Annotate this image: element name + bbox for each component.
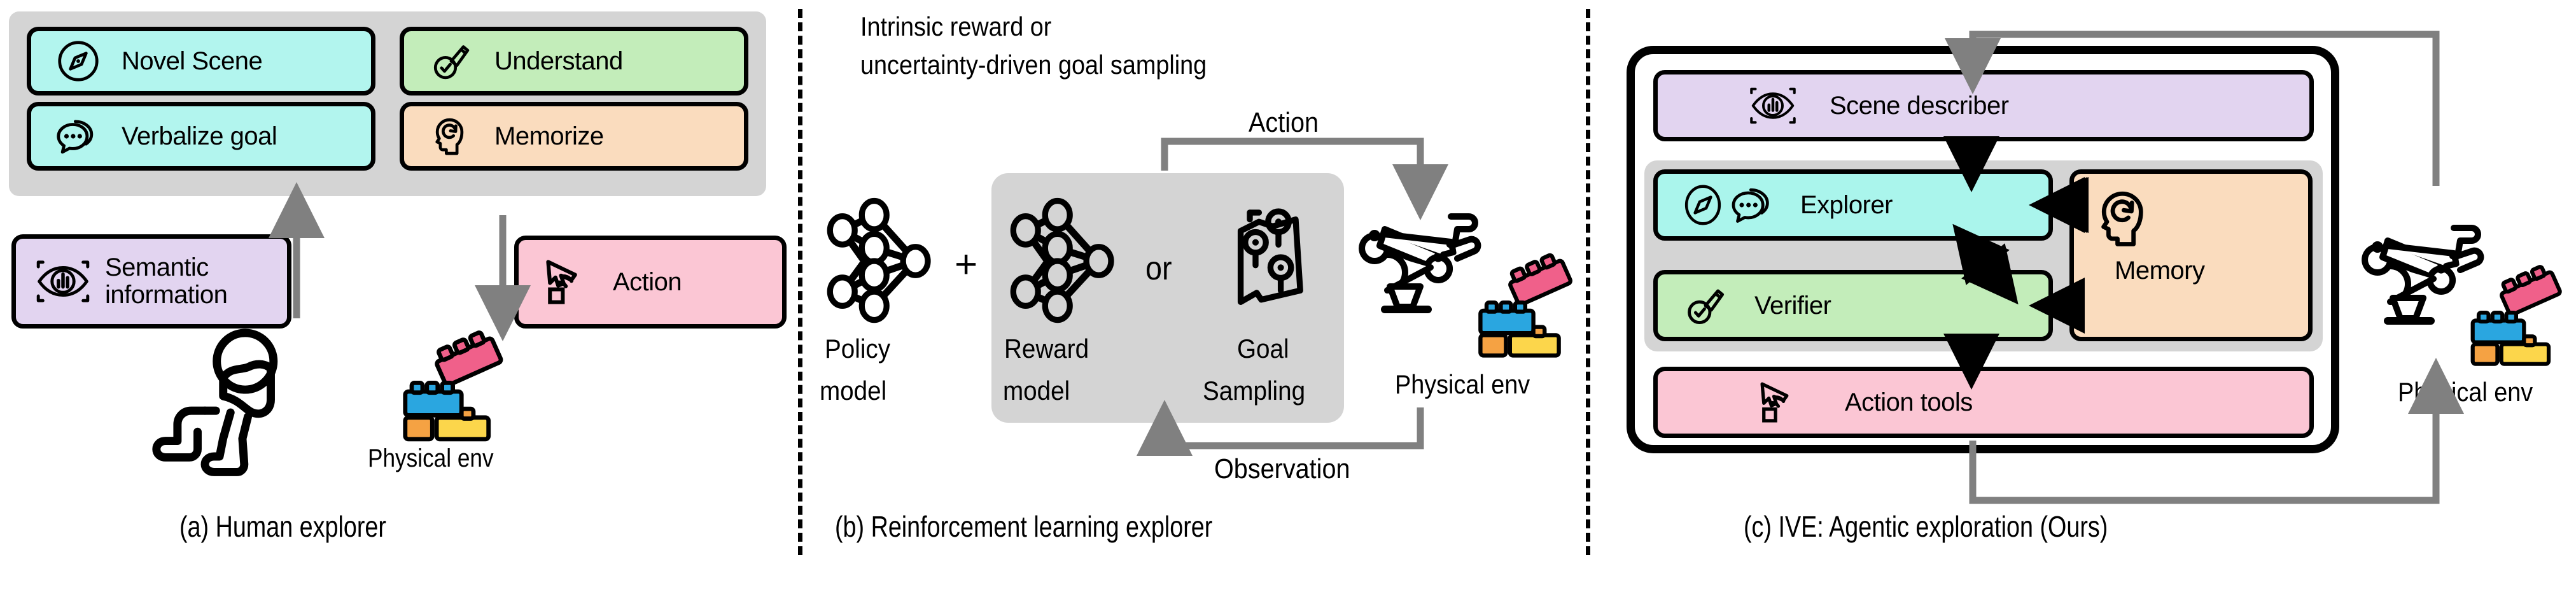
box-memory-label: Memory	[2115, 257, 2204, 285]
box-verifier-label: Verifier	[1754, 292, 1831, 320]
map-pins-icon	[1215, 199, 1330, 323]
head-refresh-icon-c	[2089, 183, 2160, 254]
reward-model-label-line1: Reward	[1004, 334, 1089, 364]
figure-root: Novel Scene Verbalize goal Understand	[0, 0, 2576, 601]
box-verifier[interactable]: Verifier	[1653, 270, 2053, 341]
semantic-line-1: Semantic	[105, 254, 227, 281]
policy-model	[820, 197, 941, 325]
eye-scan-icon-c	[1747, 80, 1799, 132]
box-memorize-label: Memorize	[494, 122, 604, 151]
crawling-child-icon	[127, 325, 312, 471]
panel-c-env-label: Physical env	[2398, 377, 2533, 407]
panel-b-env-label: Physical env	[1395, 369, 1530, 400]
box-semantic-information[interactable]: Semantic information	[11, 234, 291, 329]
reward-model	[1003, 197, 1124, 325]
box-scene-describer-label: Scene describer	[1830, 92, 2009, 120]
box-action-label: Action	[613, 268, 682, 297]
box-memorize[interactable]: Memorize	[400, 102, 748, 171]
box-semantic-information-label: Semantic information	[105, 254, 227, 309]
lego-bricks-icon-c	[2458, 271, 2576, 370]
box-memory[interactable]: Memory	[2069, 169, 2313, 341]
magnifier-check-icon	[427, 37, 475, 85]
goal-sampling-label-line1: Goal	[1237, 334, 1289, 364]
policy-model-label-line1: Policy	[825, 334, 890, 364]
box-explorer[interactable]: Explorer	[1653, 169, 2053, 241]
divider-a-b	[798, 9, 802, 555]
speech-bubble-icon-c	[1729, 180, 1779, 230]
panel-a-env-label: Physical env	[368, 444, 494, 473]
box-verbalize-goal-label: Verbalize goal	[122, 122, 277, 151]
panel-b-headline-line1: Intrinsic reward or	[860, 11, 1051, 42]
magnifier-check-icon-c	[1681, 281, 1730, 330]
panel-b-action-arrow-label: Action	[1249, 107, 1319, 139]
box-action[interactable]: Action	[514, 236, 787, 329]
compass-icon-c	[1679, 181, 1726, 229]
box-understand[interactable]: Understand	[400, 27, 748, 95]
panel-b-caption: (b) Reinforcement learning explorer	[835, 509, 1212, 544]
box-understand-label: Understand	[494, 47, 623, 76]
panel-b-headline-line2: uncertainty-driven goal sampling	[860, 50, 1207, 80]
box-verbalize-goal[interactable]: Verbalize goal	[27, 102, 375, 171]
panel-b-observation-arrow-label: Observation	[1214, 453, 1350, 485]
panel-c-caption: (c) IVE: Agentic exploration (Ours)	[1744, 509, 2108, 544]
hand-pointer-icon-c	[1753, 375, 1808, 430]
reward-model-label-line2: model	[1003, 376, 1070, 406]
goal-sampling-label-line2: Sampling	[1203, 376, 1305, 406]
hand-pointer-icon	[538, 251, 599, 313]
box-explorer-label: Explorer	[1800, 191, 1893, 220]
eye-scan-icon	[32, 251, 94, 312]
or-separator: or	[1145, 250, 1172, 288]
lego-bricks-icon	[388, 337, 522, 446]
lego-bricks-icon-b	[1464, 260, 1591, 362]
semantic-line-2: information	[105, 281, 227, 309]
box-action-tools-label: Action tools	[1845, 388, 1973, 417]
box-action-tools[interactable]: Action tools	[1653, 367, 2314, 438]
box-novel-scene[interactable]: Novel Scene	[27, 27, 375, 95]
box-novel-scene-label: Novel Scene	[122, 47, 262, 76]
policy-model-label-line2: model	[820, 376, 886, 406]
plus-sign: +	[955, 242, 977, 287]
panel-a-caption: (a) Human explorer	[179, 509, 386, 544]
compass-icon	[54, 37, 102, 85]
box-scene-describer[interactable]: Scene describer	[1653, 70, 2314, 141]
speech-bubble-icon	[54, 112, 102, 160]
head-refresh-icon	[427, 112, 475, 160]
